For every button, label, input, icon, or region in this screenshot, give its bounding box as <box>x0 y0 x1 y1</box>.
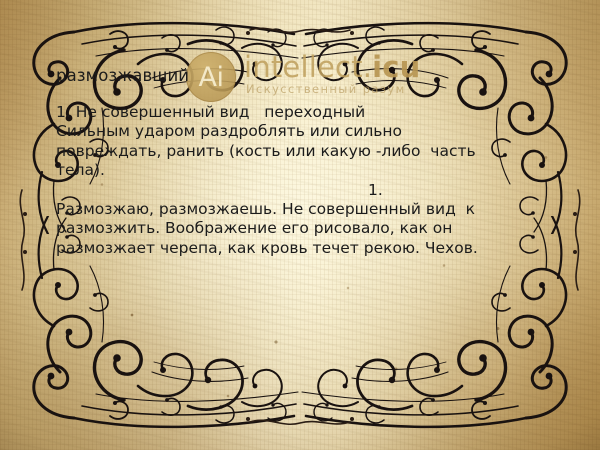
definition-line: Размозжаю, размозжаешь. Не совершенный в… <box>56 200 556 219</box>
definition-line: Сильным ударом раздроблять или сильно <box>56 122 556 141</box>
entry-headword: размозжавший <box>56 65 556 87</box>
definition-line: тела). <box>56 161 556 180</box>
dictionary-entry: размозжавший 1. Не совершенный вид перех… <box>56 65 556 258</box>
entry-definition-body: 1. Не совершенный вид переходный Сильным… <box>56 103 556 258</box>
parchment-card: Ai intellect.icu Искусственный разум раз… <box>0 0 600 450</box>
definition-line: повреждать, ранить (кость или какую -либ… <box>56 142 556 161</box>
sense-number-right: 1. <box>56 181 556 200</box>
definition-line: 1. Не совершенный вид переходный <box>56 103 556 122</box>
definition-line: размозжить. Воображение его рисовало, ка… <box>56 219 556 238</box>
definition-line: размозжает черепа, как кровь течет рекою… <box>56 239 556 258</box>
